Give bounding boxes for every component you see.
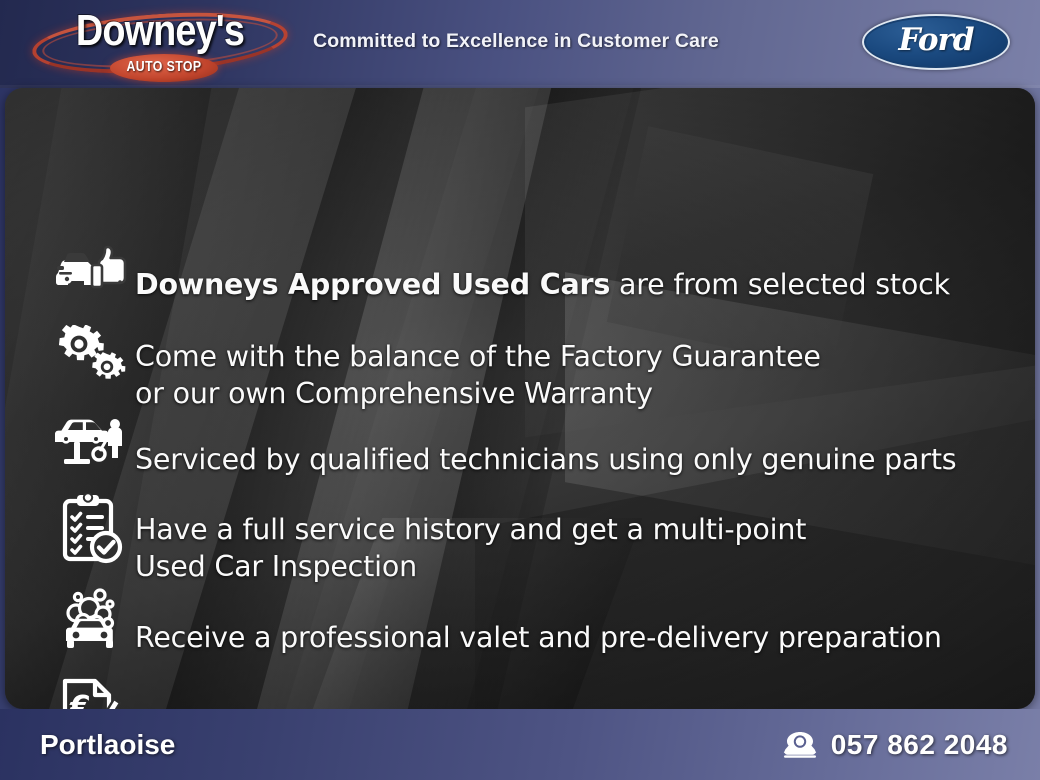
clipboard-checklist-icon — [49, 493, 135, 565]
car-thumbs-up-icon — [49, 241, 135, 291]
feature-text: Have a full service history and get a mu… — [135, 474, 806, 585]
feature-text-normal: Come with the balance of the Factory Gua… — [135, 340, 821, 410]
feature-text: Downeys Approved Used Cars are from sele… — [135, 229, 950, 303]
car-on-lift-mechanic-icon — [49, 412, 135, 470]
dealer-location: Portlaoise — [40, 729, 175, 761]
contact-phone[interactable]: 057 862 2048 — [783, 729, 1008, 761]
feature-text: Offered with competitive finance rates a… — [135, 674, 867, 709]
feature-text-normal: Serviced by qualified technicians using … — [135, 443, 956, 476]
header-tagline: Committed to Excellence in Customer Care — [313, 30, 719, 53]
svg-text:€: € — [69, 690, 91, 709]
feature-item: Serviced by qualified technicians using … — [49, 406, 956, 476]
downeys-logo-icon[interactable]: Downey's AUTO STOP — [26, 4, 294, 84]
feature-list: Downeys Approved Used Cars are from sele… — [5, 88, 1035, 709]
feature-item: Downeys Approved Used Cars are from sele… — [49, 236, 950, 296]
phone-number: 057 862 2048 — [831, 729, 1008, 761]
feature-text-normal: Receive a professional valet and pre-del… — [135, 621, 942, 654]
feature-text: Serviced by qualified technicians using … — [135, 404, 956, 478]
feature-item: € Offered with competitive finance rates… — [49, 671, 867, 709]
feature-item: Come with the balance of the Factory Gua… — [49, 314, 821, 398]
feature-text-normal: Have a full service history and get a mu… — [135, 513, 806, 583]
feature-item: Have a full service history and get a mu… — [49, 486, 806, 572]
gears-icon — [49, 325, 135, 387]
ford-wordmark: Ford — [862, 22, 1010, 58]
car-wash-bubbles-icon — [49, 587, 135, 651]
feature-text-normal: are from selected stock — [610, 268, 950, 301]
euro-document-pen-icon: € — [49, 675, 135, 709]
footer-bar: Portlaoise 057 862 2048 — [0, 709, 1040, 780]
logo-subtext: AUTO STOP — [120, 58, 209, 75]
feature-text-strong: Downeys Approved Used Cars — [135, 268, 610, 301]
feature-item: Receive a professional valet and pre-del… — [49, 583, 942, 655]
features-panel: Downeys Approved Used Cars are from sele… — [5, 88, 1035, 709]
telephone-icon — [783, 731, 817, 759]
logo-wordmark: Downey's — [45, 6, 275, 56]
ford-oval-logo-icon[interactable]: Ford — [862, 14, 1010, 70]
advert-banner: Downey's AUTO STOP Committed to Excellen… — [0, 0, 1040, 780]
header-bar: Downey's AUTO STOP Committed to Excellen… — [0, 0, 1040, 88]
feature-text: Come with the balance of the Factory Gua… — [135, 301, 821, 412]
feature-text: Receive a professional valet and pre-del… — [135, 582, 942, 656]
